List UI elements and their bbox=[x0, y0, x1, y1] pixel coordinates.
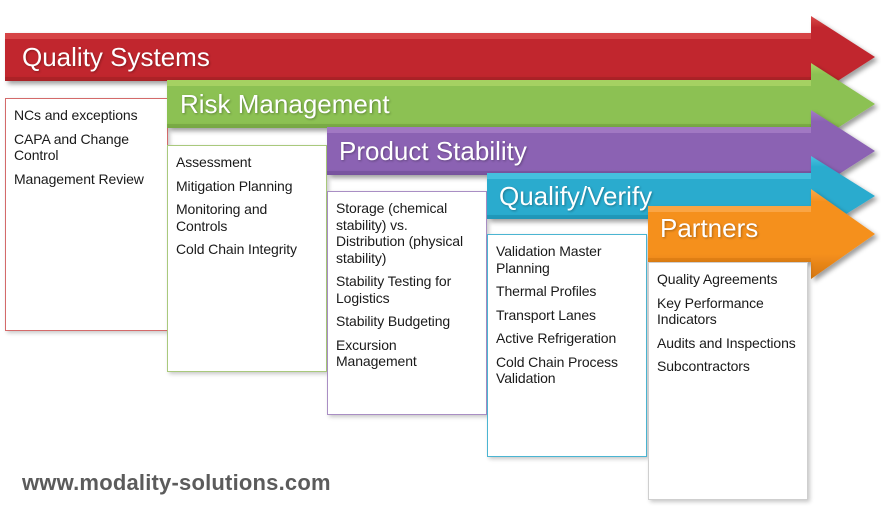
list-item: Active Refrigeration bbox=[496, 330, 640, 347]
detail-box-partners: Quality AgreementsKey Performance Indica… bbox=[648, 262, 808, 500]
detail-box-product-stability: Storage (chemical stability) vs. Distrib… bbox=[327, 191, 487, 415]
footer-url: www.modality-solutions.com bbox=[22, 470, 331, 496]
detail-box-quality-systems: NCs and exceptionsCAPA and Change Contro… bbox=[5, 98, 168, 331]
list-item: Stability Budgeting bbox=[336, 313, 480, 330]
detail-list-quality-systems: NCs and exceptionsCAPA and Change Contro… bbox=[14, 107, 161, 187]
detail-list-product-stability: Storage (chemical stability) vs. Distrib… bbox=[336, 200, 480, 370]
list-item: Thermal Profiles bbox=[496, 283, 640, 300]
list-item: Subcontractors bbox=[657, 358, 801, 375]
detail-box-risk-management: AssessmentMitigation PlanningMonitoring … bbox=[167, 145, 327, 372]
list-item: Cold Chain Integrity bbox=[176, 241, 320, 258]
list-item: Transport Lanes bbox=[496, 307, 640, 324]
list-item: Management Review bbox=[14, 171, 161, 188]
list-item: NCs and exceptions bbox=[14, 107, 161, 124]
list-item: Monitoring and Controls bbox=[176, 201, 320, 234]
detail-list-risk-management: AssessmentMitigation PlanningMonitoring … bbox=[176, 154, 320, 258]
list-item: Mitigation Planning bbox=[176, 178, 320, 195]
list-item: Cold Chain Process Validation bbox=[496, 354, 640, 387]
detail-list-partners: Quality AgreementsKey Performance Indica… bbox=[657, 271, 801, 375]
list-item: Key Performance Indicators bbox=[657, 295, 801, 328]
detail-list-qualify-verify: Validation Master PlanningThermal Profil… bbox=[496, 243, 640, 387]
list-item: Assessment bbox=[176, 154, 320, 171]
diagram-canvas: Quality SystemsNCs and exceptionsCAPA an… bbox=[0, 0, 881, 506]
list-item: Audits and Inspections bbox=[657, 335, 801, 352]
list-item: CAPA and Change Control bbox=[14, 131, 161, 164]
detail-box-qualify-verify: Validation Master PlanningThermal Profil… bbox=[487, 234, 647, 457]
list-item: Excursion Management bbox=[336, 337, 480, 370]
list-item: Stability Testing for Logistics bbox=[336, 273, 480, 306]
list-item: Storage (chemical stability) vs. Distrib… bbox=[336, 200, 480, 266]
list-item: Validation Master Planning bbox=[496, 243, 640, 276]
list-item: Quality Agreements bbox=[657, 271, 801, 288]
